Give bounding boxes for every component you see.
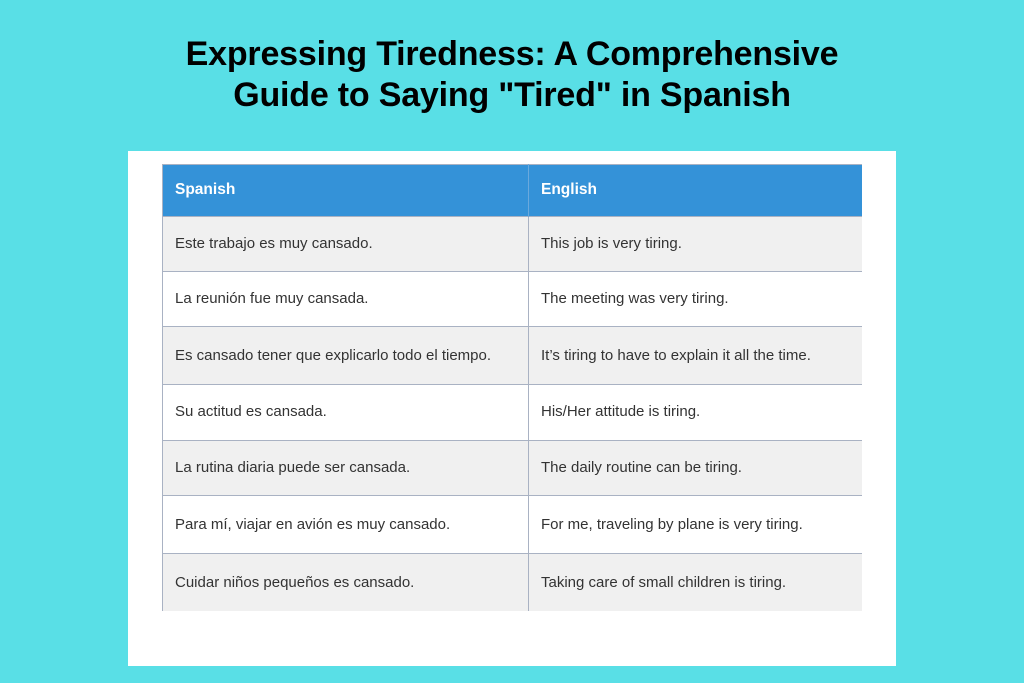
table-body: Este trabajo es muy cansado. This job is…: [163, 216, 863, 611]
phrases-table: Spanish English Este trabajo es muy cans…: [162, 164, 862, 611]
cell-spanish: Su actitud es cansada.: [163, 385, 529, 440]
cell-spanish: La reunión fue muy cansada.: [163, 271, 529, 326]
table-header-row: Spanish English: [163, 165, 863, 217]
table-row: Su actitud es cansada. His/Her attitude …: [163, 385, 863, 440]
table-row: La rutina diaria puede ser cansada. The …: [163, 440, 863, 495]
table-row: La reunión fue muy cansada. The meeting …: [163, 271, 863, 326]
column-header-english[interactable]: English: [529, 165, 863, 217]
table-row: Para mí, viajar en avión es muy cansado.…: [163, 495, 863, 553]
table-row: Es cansado tener que explicarlo todo el …: [163, 327, 863, 385]
page-title-line-2: Guide to Saying "Tired" in Spanish: [60, 75, 964, 116]
cell-spanish: Cuidar niños pequeños es cansado.: [163, 554, 529, 612]
column-header-spanish[interactable]: Spanish: [163, 165, 529, 217]
cell-english: Taking care of small children is tiring.: [529, 554, 863, 612]
cell-english: The meeting was very tiring.: [529, 271, 863, 326]
page-title: Expressing Tiredness: A Comprehensive Gu…: [0, 34, 1024, 116]
table-row: Este trabajo es muy cansado. This job is…: [163, 216, 863, 271]
page-root: Expressing Tiredness: A Comprehensive Gu…: [0, 0, 1024, 683]
table-card: Spanish English Este trabajo es muy cans…: [128, 151, 896, 666]
cell-english: This job is very tiring.: [529, 216, 863, 271]
cell-english: It’s tiring to have to explain it all th…: [529, 327, 863, 385]
cell-english: For me, traveling by plane is very tirin…: [529, 495, 863, 553]
cell-spanish: Es cansado tener que explicarlo todo el …: [163, 327, 529, 385]
cell-english: The daily routine can be tiring.: [529, 440, 863, 495]
cell-english: His/Her attitude is tiring.: [529, 385, 863, 440]
cell-spanish: Para mí, viajar en avión es muy cansado.: [163, 495, 529, 553]
table-header: Spanish English: [163, 165, 863, 217]
table-scroll-region: Spanish English Este trabajo es muy cans…: [162, 164, 862, 611]
cell-spanish: Este trabajo es muy cansado.: [163, 216, 529, 271]
cell-spanish: La rutina diaria puede ser cansada.: [163, 440, 529, 495]
table-row: Cuidar niños pequeños es cansado. Taking…: [163, 554, 863, 612]
page-title-line-1: Expressing Tiredness: A Comprehensive: [60, 34, 964, 75]
